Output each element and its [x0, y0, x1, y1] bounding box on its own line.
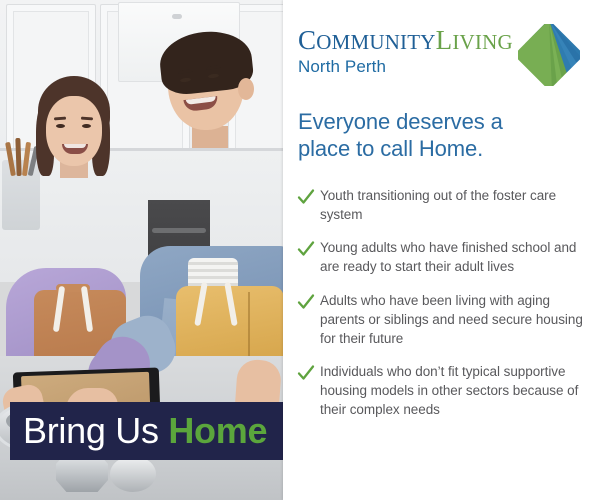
check-icon — [296, 188, 316, 206]
range-hood-knob — [172, 14, 182, 19]
community-living-diamond-logo — [518, 24, 580, 86]
logo-wordmark: COMMUNITYLIVING North Perth — [298, 27, 513, 77]
logo-living-rest: IVING — [452, 30, 512, 54]
list-item: Young adults who have finished school an… — [296, 238, 586, 276]
content-panel: COMMUNITYLIVING North Perth — [283, 0, 600, 500]
headline-line-2: place to call Home. — [298, 135, 578, 162]
bring-us-home-banner: Bring Us Home — [10, 402, 283, 460]
logo-line-1: COMMUNITYLIVING — [298, 27, 513, 54]
cookie-cutter — [110, 456, 156, 492]
list-item-label: Youth transitioning out of the foster ca… — [316, 186, 586, 224]
girl-eye — [56, 124, 65, 128]
list-item: Individuals who don’t fit typical suppor… — [296, 362, 586, 419]
list-item: Youth transitioning out of the foster ca… — [296, 186, 586, 224]
girl-eye — [82, 124, 91, 128]
boy-ear — [238, 78, 254, 100]
logo-community-cap: C — [298, 25, 316, 55]
page-title: Everyone deserves a place to call Home. — [298, 108, 578, 163]
check-icon — [296, 240, 316, 258]
banner-text: Bring Us Home — [10, 413, 267, 449]
list-item: Adults who have been living with aging p… — [296, 291, 586, 348]
kitchen-baking-photo: Bring Us Home — [0, 0, 283, 500]
banner-text-green: Home — [168, 410, 267, 451]
logo-community-rest: OMMUNITY — [316, 30, 435, 54]
check-icon — [296, 364, 316, 382]
list-item-label: Individuals who don’t fit typical suppor… — [316, 362, 586, 419]
headline-line-1: Everyone deserves a — [298, 108, 578, 135]
list-item-label: Young adults who have finished school an… — [316, 238, 586, 276]
check-icon — [296, 293, 316, 311]
banner-text-white: Bring Us — [23, 410, 168, 451]
logo-line-2: North Perth — [298, 57, 513, 77]
girl-face — [46, 96, 102, 166]
logo-living-cap: L — [436, 25, 453, 55]
poster-root: Bring Us Home COMMUNITYLIVING North Pert… — [0, 0, 600, 500]
benefits-list: Youth transitioning out of the foster ca… — [296, 186, 586, 434]
girl-teeth — [64, 144, 86, 148]
oven-handle — [152, 228, 206, 233]
organization-logo: COMMUNITYLIVING North Perth — [298, 27, 588, 91]
list-item-label: Adults who have been living with aging p… — [316, 291, 586, 348]
